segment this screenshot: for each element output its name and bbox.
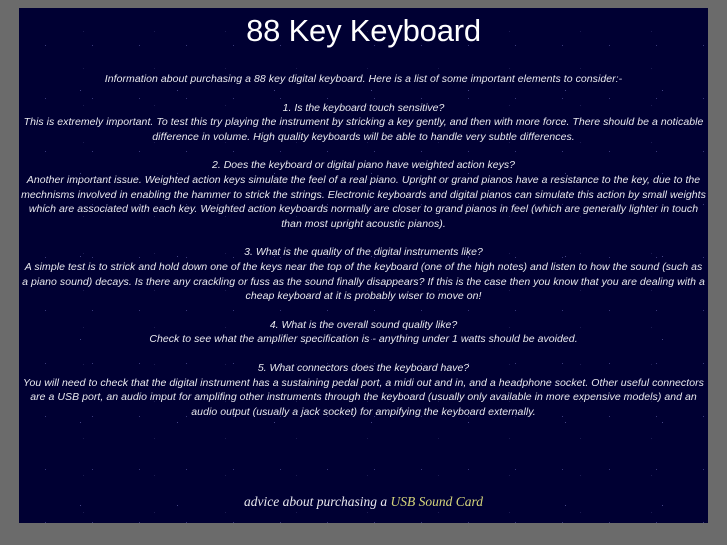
usb-sound-card-link[interactable]: USB Sound Card	[390, 494, 483, 509]
section-3: 3. What is the quality of the digital in…	[21, 245, 706, 303]
page-frame: 88 Key Keyboard Information about purcha…	[0, 0, 727, 545]
section-5-body: You will need to check that the digital …	[21, 376, 706, 420]
page-title: 88 Key Keyboard	[19, 11, 708, 51]
footer-advice-line: advice about purchasing a USB Sound Card	[19, 493, 708, 511]
section-3-heading: 3. What is the quality of the digital in…	[21, 245, 706, 260]
section-2-body: Another important issue. Weighted action…	[21, 173, 706, 231]
section-5-heading: 5. What connectors does the keyboard hav…	[21, 361, 706, 376]
section-1-heading: 1. Is the keyboard touch sensitive?	[21, 101, 706, 116]
intro-paragraph: Information about purchasing a 88 key di…	[21, 72, 706, 87]
content-panel: 88 Key Keyboard Information about purcha…	[19, 8, 708, 523]
section-5: 5. What connectors does the keyboard hav…	[21, 361, 706, 419]
article-body: Information about purchasing a 88 key di…	[19, 72, 708, 419]
section-4-heading: 4. What is the overall sound quality lik…	[21, 318, 706, 333]
section-3-body: A simple test is to strick and hold down…	[21, 260, 706, 304]
section-4: 4. What is the overall sound quality lik…	[21, 318, 706, 347]
section-1: 1. Is the keyboard touch sensitive? This…	[21, 101, 706, 145]
section-2: 2. Does the keyboard or digital piano ha…	[21, 158, 706, 231]
footer-advice-prefix: advice about purchasing a	[244, 494, 390, 509]
section-1-body: This is extremely important. To test thi…	[21, 115, 706, 144]
section-2-heading: 2. Does the keyboard or digital piano ha…	[21, 158, 706, 173]
section-4-body: Check to see what the amplifier specific…	[21, 332, 706, 347]
